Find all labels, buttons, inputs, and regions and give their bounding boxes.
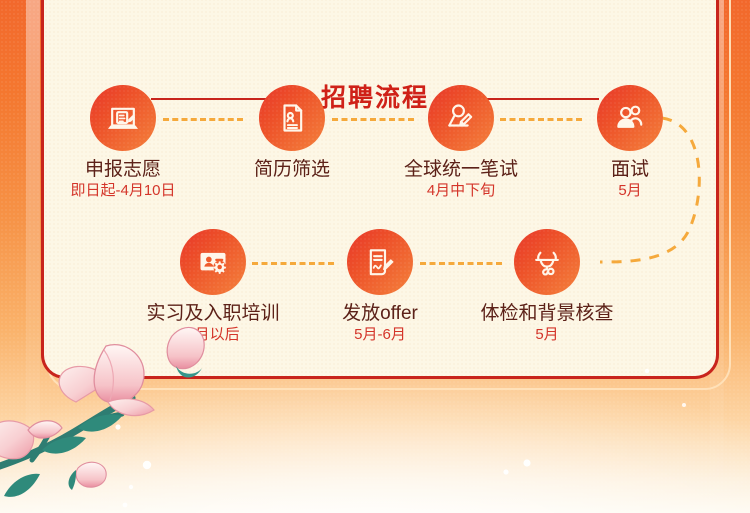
- flow-step-7-date: 5月: [535, 327, 558, 343]
- flow-step-6-label: 发放offer: [342, 304, 418, 324]
- flow-step-3-date: 4月中下旬: [427, 183, 495, 199]
- flow-step-6-date: 5月-6月: [354, 327, 406, 343]
- flow-step-1-date: 即日起-4月10日: [70, 183, 175, 199]
- flow-step-3-label: 全球统一笔试: [404, 160, 518, 180]
- flow-step-6[interactable]: 发放offer 5月-6月: [315, 229, 445, 343]
- flow-step-4[interactable]: 面试 5月: [565, 85, 695, 199]
- flow-step-3[interactable]: 全球统一笔试 4月中下旬: [396, 85, 526, 199]
- laptop-form-icon: [90, 85, 156, 151]
- stethoscope-icon: [514, 229, 580, 295]
- flow-step-1[interactable]: 申报志愿 即日起-4月10日: [58, 85, 188, 199]
- flow-step-4-date: 5月: [618, 183, 641, 199]
- magnolia-branch-decoration: [0, 300, 252, 513]
- flow-step-2-label: 简历筛选: [254, 160, 330, 180]
- infographic-root: 招聘流程: [0, 0, 750, 513]
- flow-step-4-label: 面试: [611, 160, 649, 180]
- flow-step-7[interactable]: 体检和背景核查 5月: [482, 229, 612, 343]
- flow-step-1-label: 申报志愿: [85, 160, 161, 180]
- flow-step-7-label: 体检和背景核查: [481, 304, 614, 324]
- exam-pen-icon: [428, 85, 494, 151]
- flow-step-2[interactable]: 简历筛选: [227, 85, 357, 183]
- id-card-gear-icon: [180, 229, 246, 295]
- people-icon: [597, 85, 663, 151]
- resume-icon: [259, 85, 325, 151]
- offer-signature-icon: [347, 229, 413, 295]
